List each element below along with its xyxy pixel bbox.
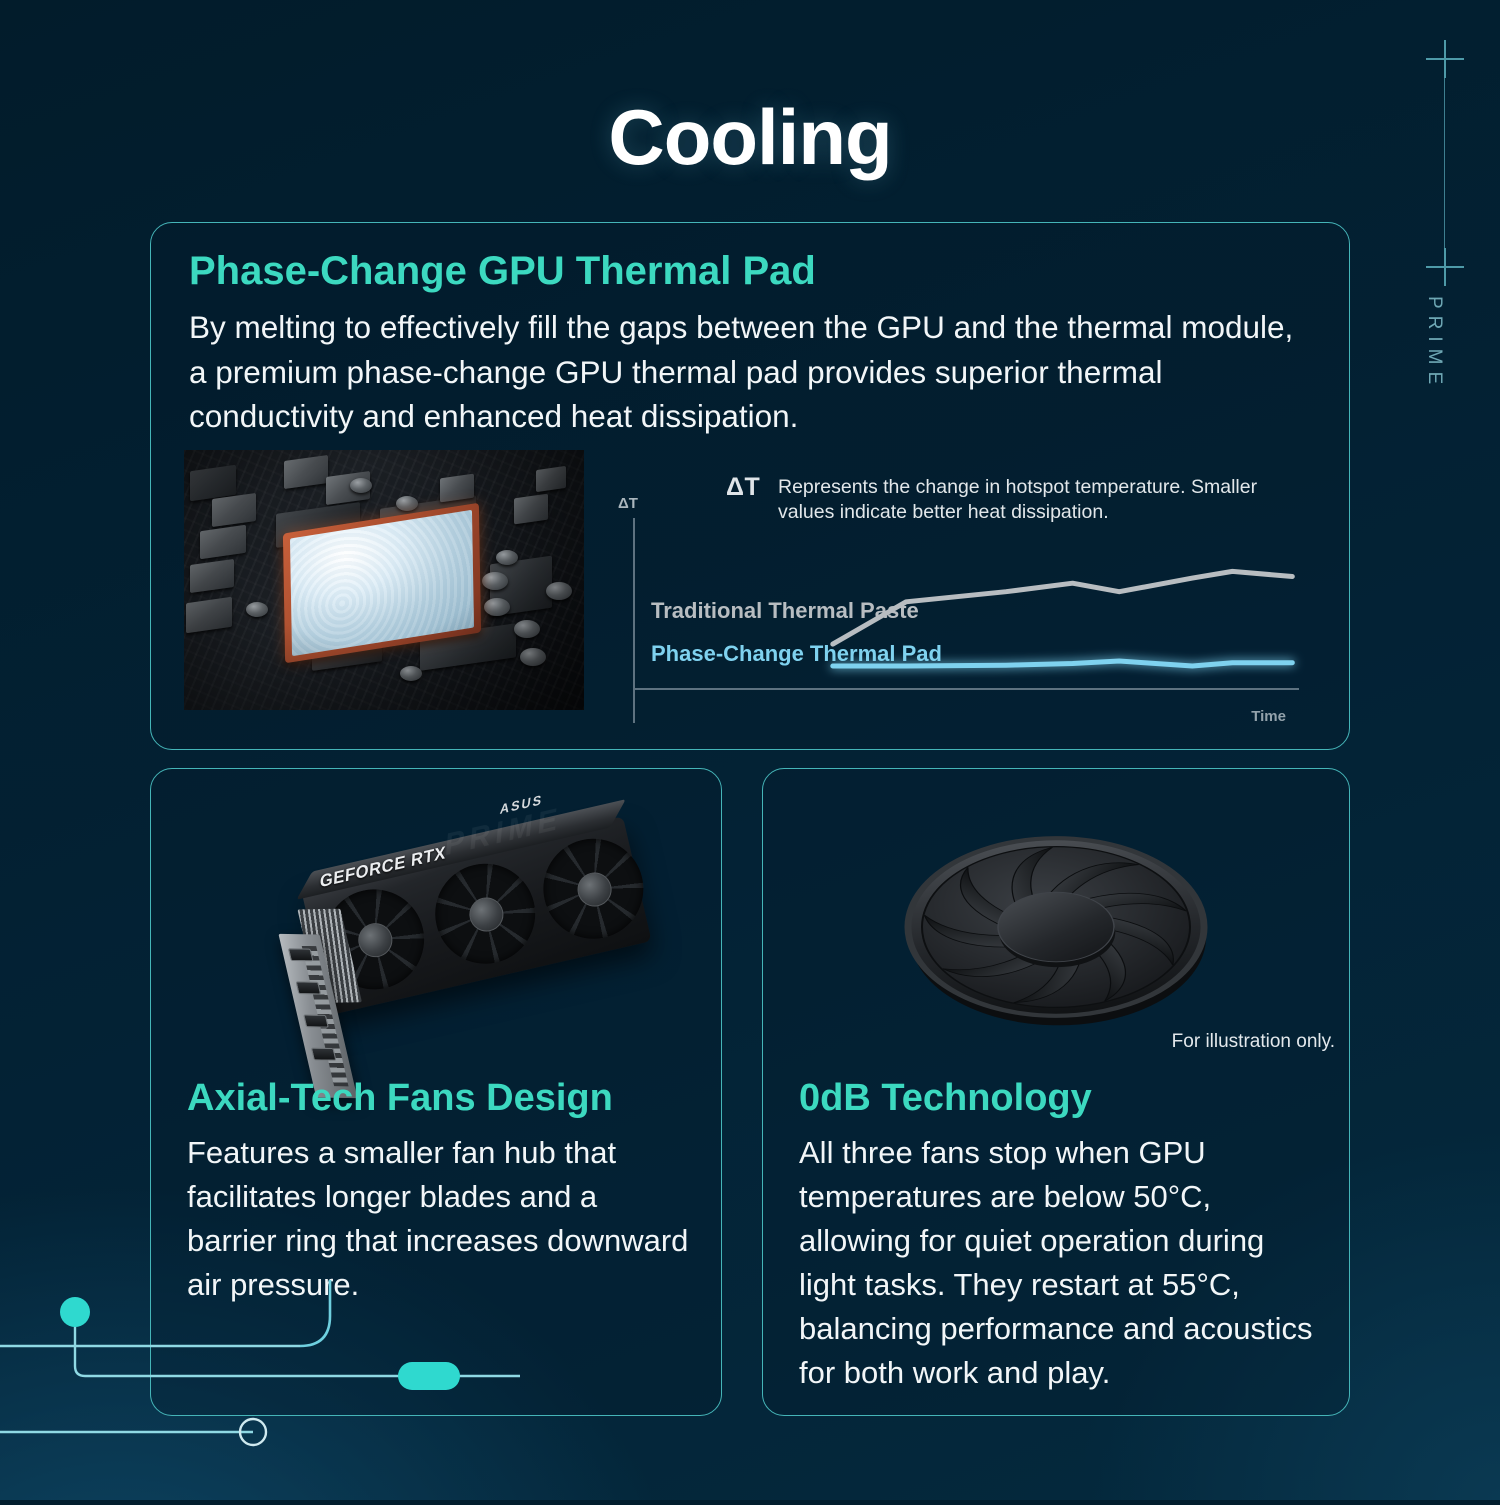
- circuit-dot-filled: [60, 1297, 90, 1327]
- prime-vertical-label: PRIME: [1423, 296, 1445, 391]
- card-0db-technology: For illustration only. 0dB Technology Al…: [762, 768, 1350, 1416]
- zero-db-body: All three fans stop when GPU temperature…: [799, 1131, 1327, 1395]
- display-port-3: [303, 1015, 329, 1028]
- circuit-trace-decoration: [0, 1280, 520, 1500]
- zero-db-heading: 0dB Technology: [799, 1077, 1092, 1120]
- plus-icon-top: [1426, 40, 1464, 78]
- thermal-pad-heading: Phase-Change GPU Thermal Pad: [189, 249, 816, 294]
- card-phase-change-thermal-pad: Phase-Change GPU Thermal Pad By melting …: [150, 222, 1350, 750]
- legend-traditional-thermal-paste: Traditional Thermal Paste: [651, 598, 919, 624]
- thermal-pad-body: By melting to effectively fill the gaps …: [189, 305, 1307, 439]
- display-port-1: [288, 948, 314, 961]
- plus-icon-bottom: [1426, 248, 1464, 286]
- thermal-comparison-chart: ΔT Represents the change in hotspot temp…: [606, 473, 1306, 723]
- page-title: Cooling: [0, 92, 1500, 183]
- legend-phase-change-thermal-pad: Phase-Change Thermal Pad: [651, 641, 942, 667]
- illustration-note: For illustration only.: [1172, 1031, 1335, 1053]
- circuit-pill: [398, 1362, 460, 1390]
- axial-tech-heading: Axial-Tech Fans Design: [187, 1077, 613, 1120]
- edge-brand-marker: PRIME: [1415, 40, 1475, 440]
- display-port-2: [296, 981, 322, 994]
- gpu-die-thermal-pad-photo: [184, 450, 584, 710]
- graphics-card-image: PRIME ASUS GEFORCE RTX: [269, 793, 659, 1073]
- hdmi-port: [311, 1048, 337, 1061]
- axial-tech-fan-illustration: [881, 795, 1231, 1065]
- edge-divider-line: [1444, 78, 1445, 248]
